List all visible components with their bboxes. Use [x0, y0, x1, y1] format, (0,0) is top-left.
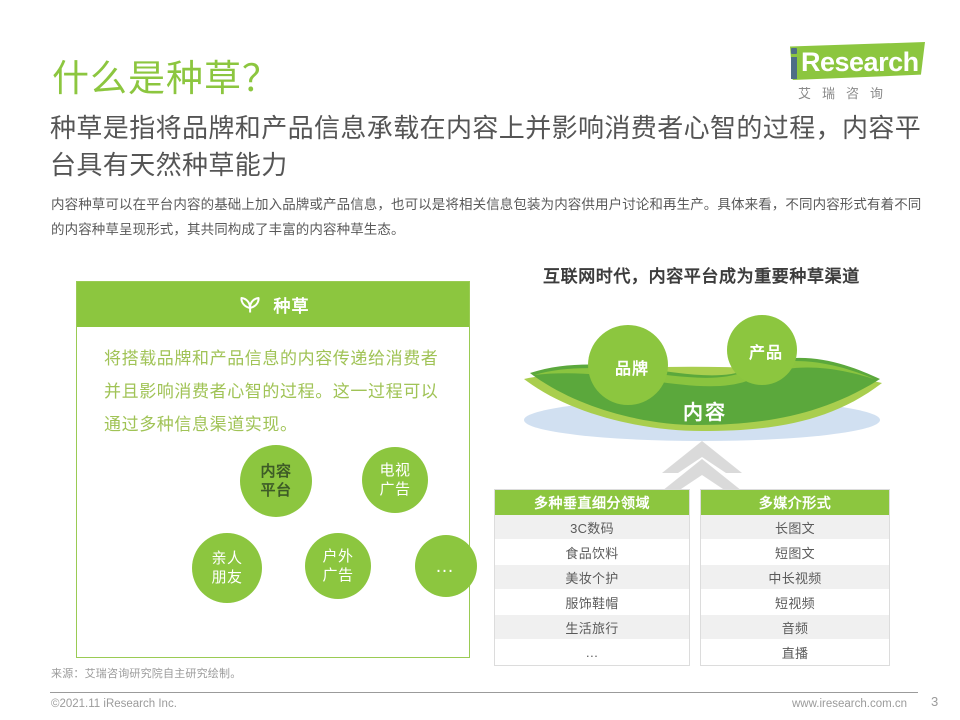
- bubble-line-1: …: [435, 557, 457, 576]
- table-row: …: [495, 640, 689, 665]
- table-row: 服饰鞋帽: [495, 590, 689, 615]
- table-row: 音频: [701, 615, 889, 640]
- iresearch-logo: Research 艾瑞咨询: [772, 42, 927, 104]
- table-row: 中长视频: [701, 565, 889, 590]
- diagram-product-label: 产品: [728, 339, 804, 363]
- source-note: 来源：艾瑞咨询研究院自主研究绘制。: [51, 665, 241, 681]
- logo-i-dot-icon: [791, 48, 797, 54]
- bubble-line-2: 朋友: [211, 568, 242, 587]
- definition-card-title: 种草: [274, 292, 310, 317]
- bubble-line-2: 广告: [322, 566, 353, 585]
- content-leaf-diagram: 品牌 产品 内容: [490, 295, 920, 495]
- diagram-content-label: 内容: [660, 396, 750, 425]
- table-row: 长图文: [701, 515, 889, 540]
- table-header: 多种垂直细分领域: [495, 490, 689, 515]
- bubble-more[interactable]: …: [415, 535, 477, 597]
- sprout-icon: [237, 289, 263, 320]
- bubble-family-friends[interactable]: 亲人 朋友: [192, 533, 262, 603]
- page-subtitle: 种草是指将品牌和产品信息承载在内容上并影响消费者心智的过程，内容平台具有天然种草…: [50, 110, 930, 184]
- logo-chinese-name: 艾瑞咨询: [798, 83, 894, 102]
- bubble-line-1: 户外: [322, 547, 353, 566]
- table-header: 多媒介形式: [701, 490, 889, 515]
- table-row: 生活旅行: [495, 615, 689, 640]
- table-row: 食品饮料: [495, 540, 689, 565]
- footer-page-number: 3: [931, 694, 938, 709]
- table-row: 短视频: [701, 590, 889, 615]
- lead-paragraph: 内容种草可以在平台内容的基础上加入品牌或产品信息，也可以是将相关信息包装为内容供…: [51, 192, 923, 242]
- definition-card-text: 将搭载品牌和产品信息的内容传递给消费者并且影响消费者心智的过程。这一过程可以通过…: [104, 342, 444, 441]
- bubble-line-1: 电视: [379, 461, 410, 480]
- bubble-line-1: 亲人: [211, 549, 242, 568]
- footer-copyright: ©2021.11 iResearch Inc.: [51, 698, 177, 710]
- logo-i-stem-icon: [791, 57, 797, 79]
- definition-card-header: 种草: [77, 282, 469, 327]
- channel-bubble-group: 内容 平台 电视 广告 亲人 朋友 户外 广告 …: [77, 445, 471, 645]
- definition-card: 种草 将搭载品牌和产品信息的内容传递给消费者并且影响消费者心智的过程。这一过程可…: [76, 281, 470, 658]
- bubble-line-1: 内容: [260, 462, 291, 481]
- footer-divider: [50, 692, 918, 693]
- table-row: 美妆个护: [495, 565, 689, 590]
- slide-canvas: Research 艾瑞咨询 什么是种草？ 种草是指将品牌和产品信息承载在内容上并…: [0, 0, 960, 720]
- right-section-title: 互联网时代，内容平台成为重要种草渠道: [543, 262, 860, 287]
- table-vertical-categories: 多种垂直细分领域 3C数码 食品饮料 美妆个护 服饰鞋帽 生活旅行 …: [494, 489, 690, 666]
- bubble-content-platform[interactable]: 内容 平台: [240, 445, 312, 517]
- page-title: 什么是种草？: [52, 48, 280, 102]
- bubble-outdoor-ad[interactable]: 户外 广告: [305, 533, 371, 599]
- bubble-line-2: 广告: [379, 480, 410, 499]
- diagram-brand-label: 品牌: [594, 355, 670, 379]
- bubble-line-2: 平台: [260, 481, 291, 500]
- table-row: 3C数码: [495, 515, 689, 540]
- table-row: 短图文: [701, 540, 889, 565]
- footer-website-url[interactable]: www.iresearch.com.cn: [792, 698, 907, 710]
- logo-wordmark: Research: [801, 47, 919, 77]
- bubble-tv-ad[interactable]: 电视 广告: [362, 447, 428, 513]
- table-row: 直播: [701, 640, 889, 665]
- table-media-formats: 多媒介形式 长图文 短图文 中长视频 短视频 音频 直播: [700, 489, 890, 666]
